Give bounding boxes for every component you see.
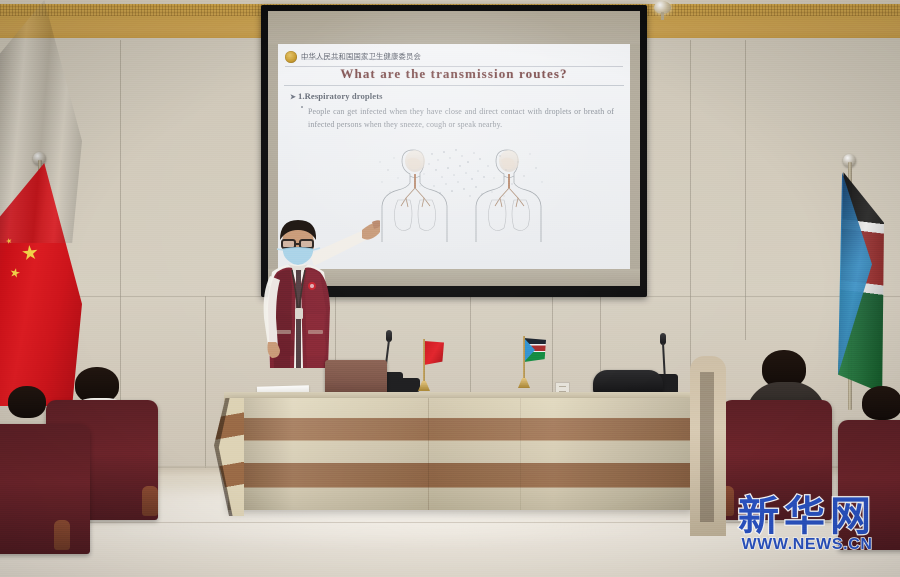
arrow-bullet-icon: ➤ xyxy=(290,93,296,101)
seat-armrest xyxy=(54,520,70,550)
wall-seam xyxy=(205,296,206,468)
tablecloth-fold xyxy=(520,398,521,510)
desk-flag-base xyxy=(518,378,530,388)
spotlight-stem xyxy=(661,12,664,20)
south-sudan-desk-flag xyxy=(518,336,550,392)
slide-bullet-level1: ➤ 1.Respiratory droplets xyxy=(290,91,383,101)
seat-right-2[interactable] xyxy=(838,420,900,550)
seat-back xyxy=(0,424,90,554)
tablecloth-fold xyxy=(428,398,429,510)
tablecloth-shading xyxy=(228,398,693,510)
presenter-arm xyxy=(310,220,380,266)
seat-armrest xyxy=(142,486,158,516)
seat-back xyxy=(722,400,832,520)
dot-bullet-icon xyxy=(301,106,303,108)
china-desk-flag-cloth xyxy=(424,341,444,365)
slide-logo-english: National Health Commission of the People… xyxy=(301,57,396,61)
av-equipment xyxy=(398,378,420,392)
droplet-transmission-illustration xyxy=(374,144,549,242)
wall-seam xyxy=(745,40,746,340)
national-emblem-icon xyxy=(285,51,297,63)
conference-chair[interactable] xyxy=(593,370,663,394)
audience-member-left-2-head xyxy=(8,386,46,418)
china-desk-flag xyxy=(418,339,448,393)
seat-right-1[interactable] xyxy=(722,400,832,520)
desk-flag-pole xyxy=(423,339,425,383)
audience-member-right-2-head xyxy=(862,386,900,420)
seat-back xyxy=(838,420,900,550)
audience-member-right-3-shadow xyxy=(700,372,714,522)
ceiling-spotlight xyxy=(652,0,674,20)
laptop[interactable] xyxy=(325,360,387,394)
slide-bullet-level2-text: People can get infected when they have c… xyxy=(308,106,614,131)
desk-flag-pole xyxy=(523,336,525,380)
seat-left-2[interactable] xyxy=(0,424,90,554)
desk-flag-base xyxy=(418,381,430,391)
slide-title-rule xyxy=(284,85,624,86)
slide-title: What are the transmission routes? xyxy=(278,66,630,82)
projection-upper-band xyxy=(268,11,640,44)
screenshot-root: 中华人民共和国国家卫生健康委员会 National Health Commiss… xyxy=(0,0,900,577)
floor-tile-seam xyxy=(0,522,900,523)
slide-bullet-level1-text: 1.Respiratory droplets xyxy=(298,91,383,101)
